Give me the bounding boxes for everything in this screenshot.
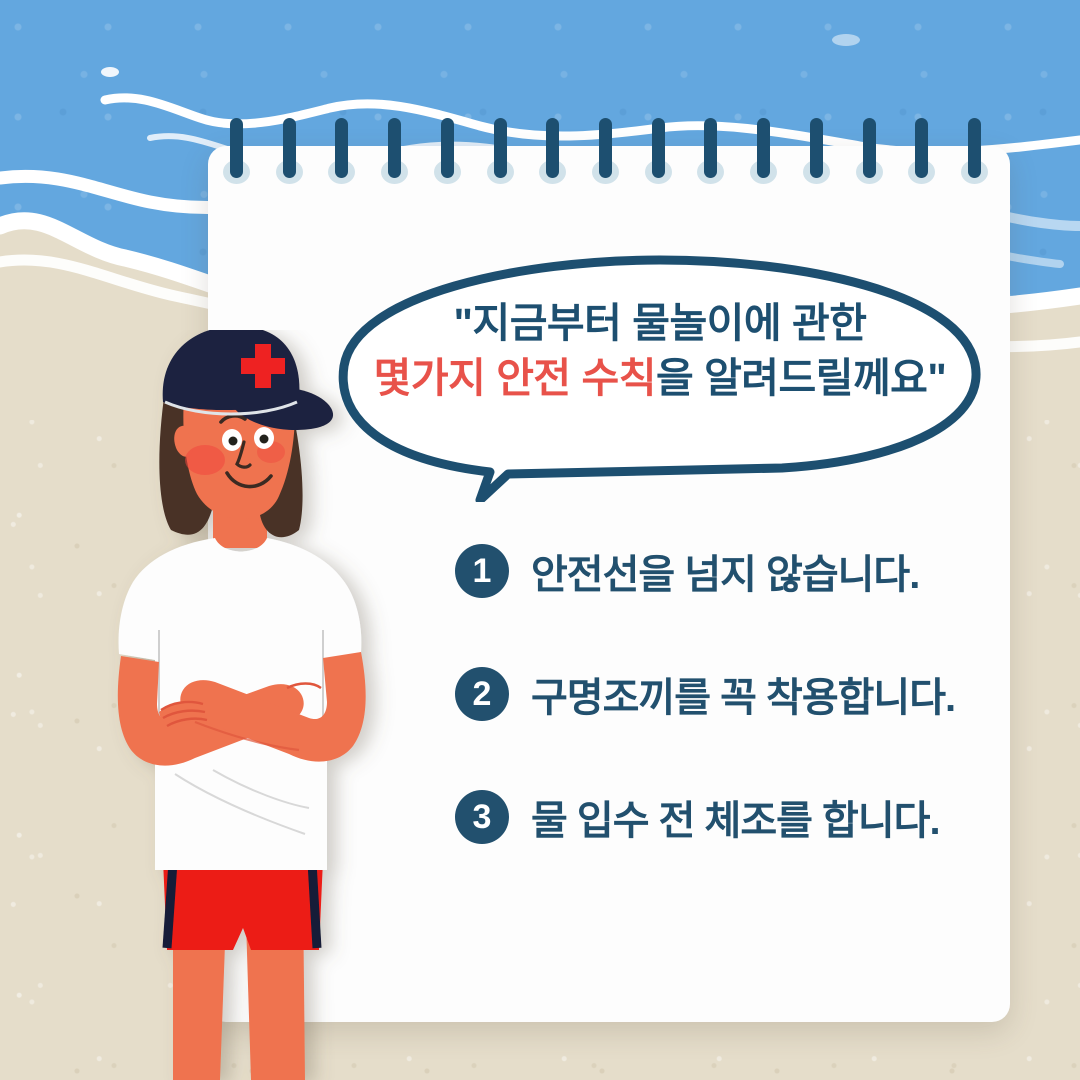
spiral-ring [494, 118, 507, 178]
bubble-line-2-rest: 을 알려드릴께요" [656, 355, 946, 401]
rule-text: 안전선을 넘지 않습니다. [531, 542, 919, 600]
spiral-ring [915, 118, 928, 178]
rule-number-badge: 1 [455, 544, 509, 598]
safety-rule-item: 3물 입수 전 체조를 합니다. [455, 786, 975, 848]
spiral-ring [388, 118, 401, 178]
shorts [163, 860, 323, 950]
speech-bubble: "지금부터 물놀이에 관한 몇가지 안전 수칙을 알려드릴께요" [330, 252, 990, 502]
cheek-left [185, 445, 225, 475]
bubble-line-1: "지금부터 물놀이에 관한 [330, 296, 990, 351]
spiral-ring [441, 118, 454, 178]
spiral-ring [810, 118, 823, 178]
bubble-highlight: 몇가지 안전 수칙 [374, 355, 656, 401]
spiral-ring [863, 118, 876, 178]
safety-rule-item: 2구명조끼를 꼭 착용합니다. [455, 663, 975, 725]
rule-text: 구명조끼를 꼭 착용합니다. [531, 665, 955, 723]
rule-text: 물 입수 전 체조를 합니다. [531, 788, 940, 846]
spiral-ring [335, 118, 348, 178]
safety-rules-list: 1안전선을 넘지 않습니다.2구명조끼를 꼭 착용합니다.3물 입수 전 체조를… [455, 540, 975, 909]
spiral-ring [230, 118, 243, 178]
pupil-right [260, 435, 269, 444]
spiral-ring [599, 118, 612, 178]
rule-number-badge: 2 [455, 667, 509, 721]
character-body-group [118, 330, 366, 1080]
shorts-stripe-left [167, 862, 173, 948]
shorts-stripe-right [312, 862, 317, 948]
bubble-line-2: 몇가지 안전 수칙을 알려드릴께요" [330, 351, 990, 406]
notepad-spiral-rings [208, 118, 1010, 198]
spiral-ring [283, 118, 296, 178]
safety-rule-item: 1안전선을 넘지 않습니다. [455, 540, 975, 602]
spiral-ring [546, 118, 559, 178]
pupil-left [229, 437, 238, 446]
rule-number-badge: 3 [455, 790, 509, 844]
spiral-ring [968, 118, 981, 178]
spiral-ring [757, 118, 770, 178]
spiral-ring [704, 118, 717, 178]
poster-canvas: "지금부터 물놀이에 관한 몇가지 안전 수칙을 알려드릴께요" 1안전선을 넘… [0, 0, 1080, 1080]
speech-bubble-text: "지금부터 물놀이에 관한 몇가지 안전 수칙을 알려드릴께요" [330, 296, 990, 406]
spiral-ring [652, 118, 665, 178]
